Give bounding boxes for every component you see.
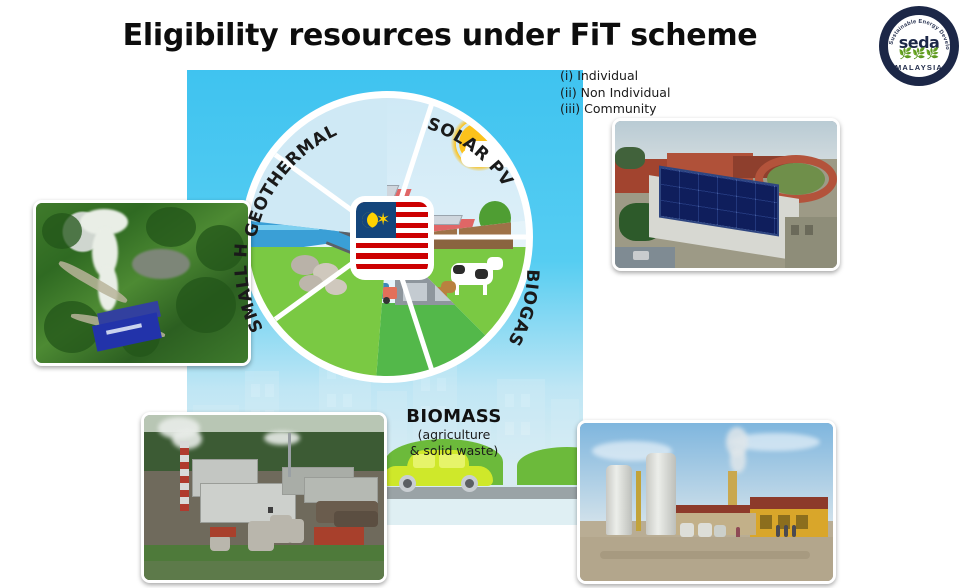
page-title: Eligibility resources under FiT scheme — [0, 18, 880, 53]
solar-note-individual: (i) Individual — [560, 68, 740, 85]
slide-canvas: Eligibility resources under FiT scheme S… — [0, 0, 970, 588]
label-biomass: BIOMASS — [389, 406, 519, 427]
note-biomass-line-1: (agriculture — [418, 427, 491, 442]
malaysia-flag-badge: ✶ — [353, 199, 431, 277]
laurel-wreath-icon: 🌿🌿🌿 — [879, 49, 959, 59]
solar-pv-photo — [612, 118, 840, 271]
malaysia-flag: ✶ — [356, 202, 428, 274]
biomass-photo — [141, 412, 387, 583]
seda-malaysia-logo: Sustainable Energy Development Authority… — [879, 6, 959, 86]
logo-country-label: MALAYSIA — [879, 63, 959, 72]
small-hydro-photo — [33, 200, 251, 366]
solar-note-community: (iii) Community — [560, 101, 740, 118]
solar-eligibility-notes: (i) Individual (ii) Non Individual (iii)… — [560, 68, 740, 118]
resources-wheel: ✶ — [247, 97, 527, 377]
note-biomass-line-2: & solid waste) — [410, 443, 499, 458]
note-biomass: (agriculture & solid waste) — [379, 427, 529, 459]
star-icon: ✶ — [376, 213, 390, 227]
solar-note-non-individual: (ii) Non Individual — [560, 85, 740, 102]
biogas-photo — [577, 420, 836, 584]
note-biogas: (Landfill, agriculture, sewage, animal w… — [572, 340, 583, 420]
